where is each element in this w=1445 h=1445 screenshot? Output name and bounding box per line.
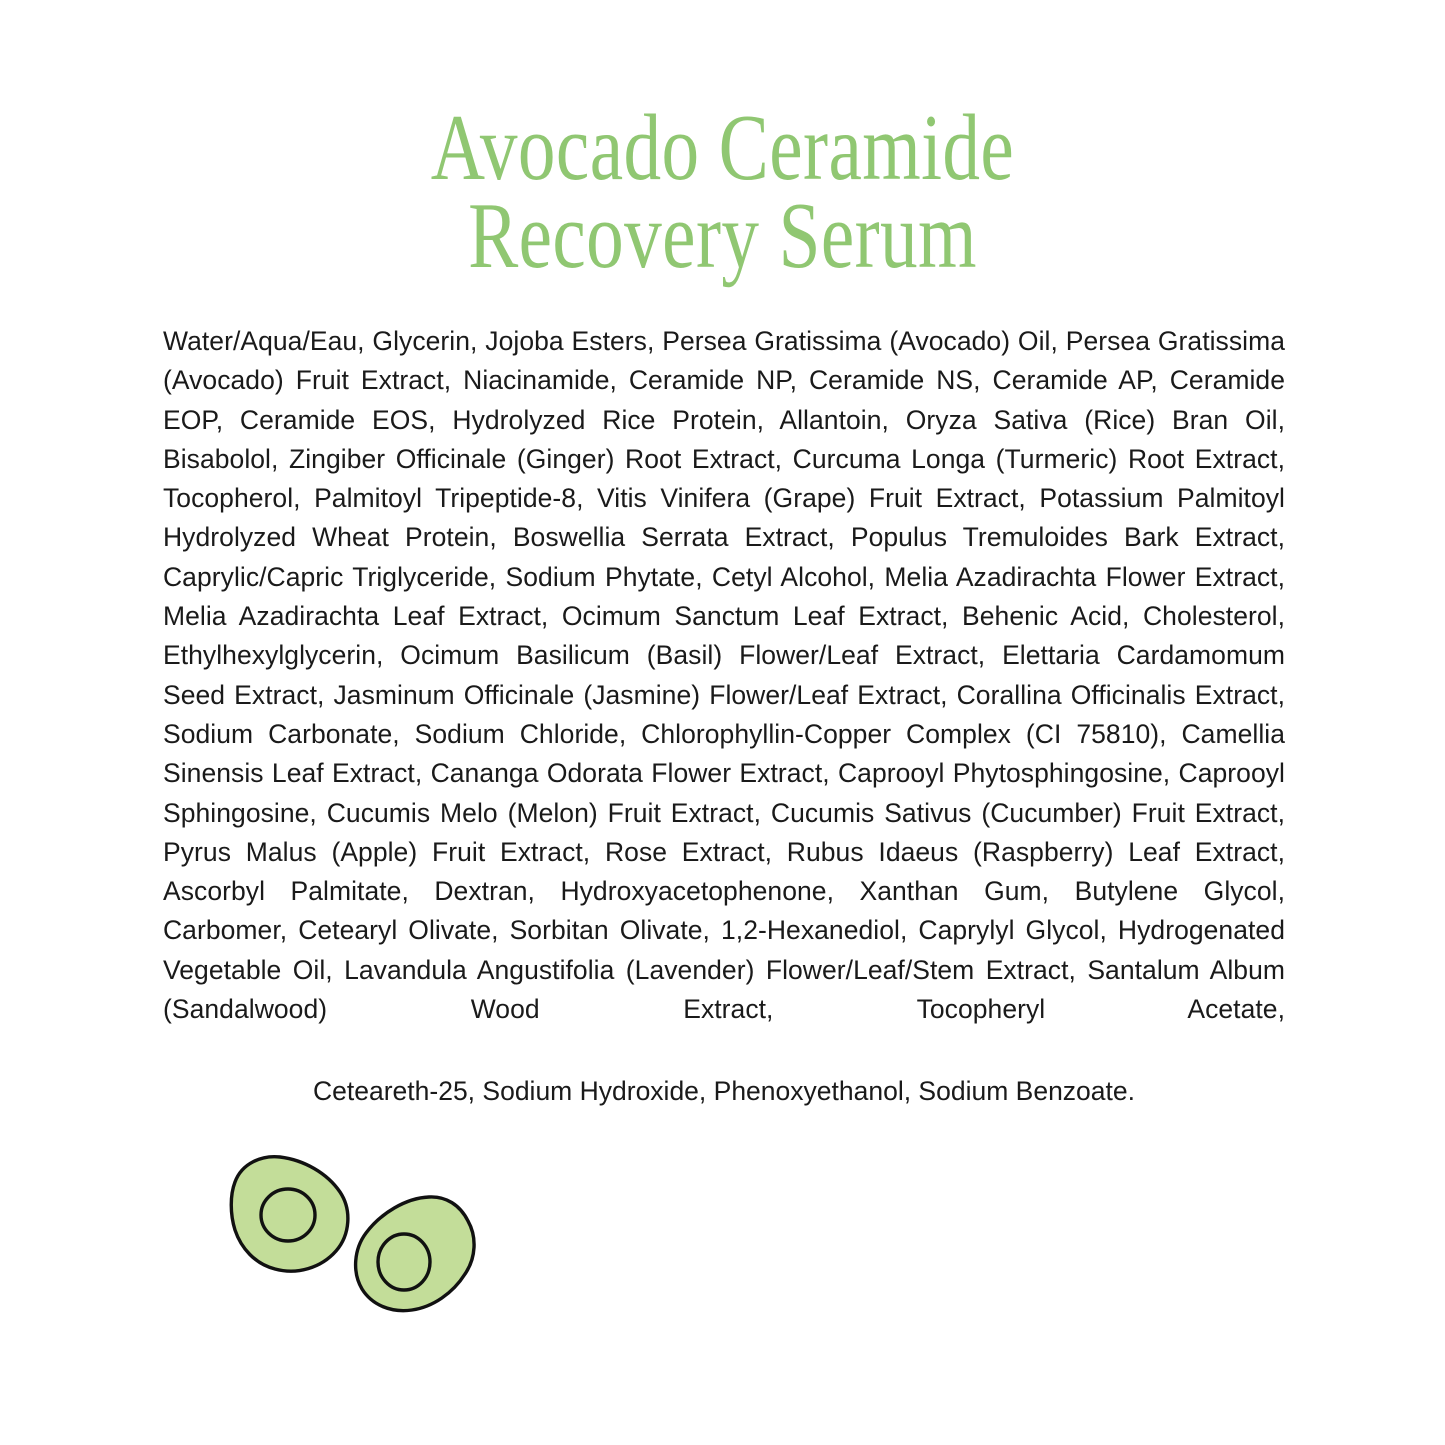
product-title-line-2: Recovery Serum [145,192,1301,280]
product-title-line-1: Avocado Ceramide [145,104,1301,192]
ingredients-paragraph: Water/Aqua/Eau, Glycerin, Jojoba Esters,… [163,322,1285,1069]
product-ingredient-card: Avocado Ceramide Recovery Serum Water/Aq… [0,0,1445,1445]
avocado-half-two [356,1197,474,1311]
avocado-pit-two [378,1234,430,1290]
avocado-illustration [205,1135,505,1355]
ingredients-last-line: Ceteareth-25, Sodium Hydroxide, Phenoxye… [163,1072,1285,1111]
avocado-halves-icon [205,1135,505,1355]
avocado-half-one [231,1157,348,1271]
page-title: Avocado Ceramide Recovery Serum [0,104,1445,280]
ingredients-last-line-wrap: Ceteareth-25, Sodium Hydroxide, Phenoxye… [163,1072,1285,1111]
avocado-pit-one [261,1189,315,1241]
